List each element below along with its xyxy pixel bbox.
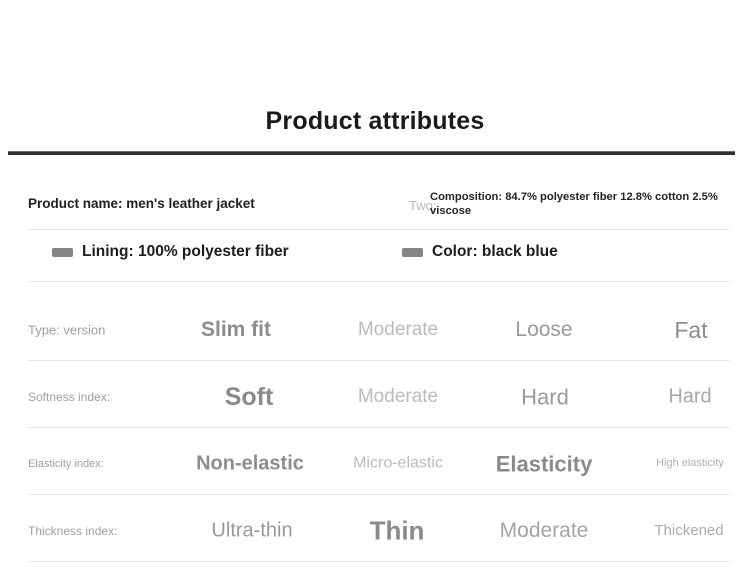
attribute-option[interactable]: Thin bbox=[370, 517, 425, 544]
attribute-label: Softness index: bbox=[28, 390, 110, 404]
page-title: Product attributes bbox=[0, 106, 750, 136]
attribute-option[interactable]: Moderate bbox=[500, 519, 589, 541]
attribute-option[interactable]: Thickened bbox=[654, 523, 723, 539]
attribute-option[interactable]: High elasticity bbox=[655, 458, 725, 470]
attribute-option[interactable]: Ultra-thin bbox=[211, 520, 292, 541]
row-separator bbox=[28, 561, 730, 562]
row-separator bbox=[28, 360, 730, 361]
attribute-option[interactable]: Slim fit bbox=[201, 318, 271, 340]
attribute-option[interactable]: Loose bbox=[515, 318, 572, 340]
row-separator bbox=[28, 427, 730, 428]
attribute-option[interactable]: Non-elastic bbox=[196, 453, 304, 474]
title-block: Product attributes bbox=[0, 106, 750, 136]
attribute-label: Thickness index: bbox=[28, 524, 117, 538]
square-bullet-icon bbox=[52, 248, 73, 257]
product-name-text: Product name: men's leather jacket bbox=[28, 196, 255, 211]
attribute-option[interactable]: Elasticity bbox=[496, 452, 593, 475]
attribute-option[interactable]: Fat bbox=[674, 317, 707, 341]
attribute-option[interactable]: Hard bbox=[668, 386, 711, 407]
product-info-row: Product name: men's leather jacket Two: … bbox=[0, 176, 750, 228]
attribute-option[interactable]: Moderate bbox=[358, 320, 438, 340]
composition-text: Composition: 84.7% polyester fiber 12.8%… bbox=[430, 190, 726, 218]
attribute-row: Thickness index:Ultra-thinThinModerateTh… bbox=[0, 497, 750, 564]
color-item: Color: black blue bbox=[402, 243, 558, 261]
attribute-option[interactable]: Soft bbox=[225, 383, 274, 409]
square-bullet-icon bbox=[402, 248, 423, 257]
row-separator bbox=[28, 229, 730, 230]
lining-color-row: Lining: 100% polyester fiber Color: blac… bbox=[0, 231, 750, 279]
title-divider bbox=[8, 151, 735, 155]
row-separator bbox=[28, 281, 730, 282]
attribute-option[interactable]: Moderate bbox=[358, 387, 438, 407]
attribute-row: Softness index:SoftModerateHardHard bbox=[0, 363, 750, 430]
attribute-label: Elasticity index: bbox=[28, 458, 104, 470]
lining-text: Lining: 100% polyester fiber bbox=[82, 243, 289, 261]
row-separator bbox=[28, 494, 730, 495]
attribute-option[interactable]: Hard bbox=[521, 385, 569, 408]
color-text: Color: black blue bbox=[432, 243, 558, 261]
attribute-row: Type: versionSlim fitModerateLooseFat bbox=[0, 296, 750, 363]
attribute-label: Type: version bbox=[28, 322, 105, 337]
lining-item: Lining: 100% polyester fiber bbox=[52, 243, 289, 261]
attribute-row: Elasticity index:Non-elasticMicro-elasti… bbox=[0, 430, 750, 497]
product-attributes-page: Product attributes Product name: men's l… bbox=[0, 0, 750, 576]
attribute-option[interactable]: Micro-elastic bbox=[353, 455, 443, 472]
